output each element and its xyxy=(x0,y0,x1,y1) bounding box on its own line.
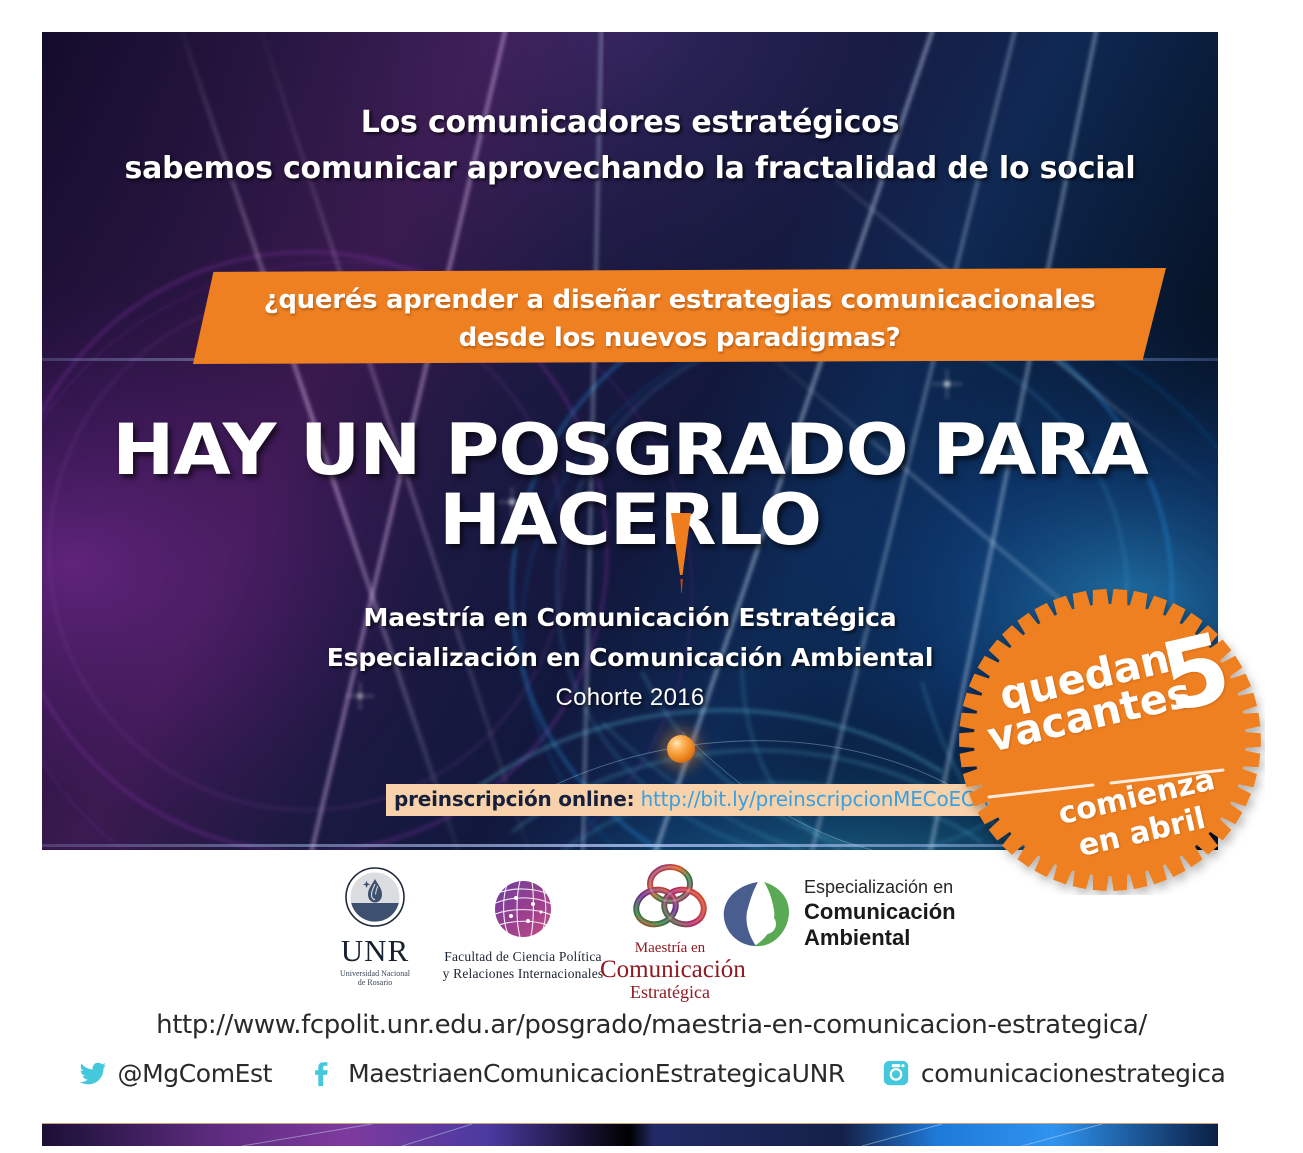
social-instagram[interactable]: comunicacionestrategica xyxy=(881,1058,1226,1088)
facultad-line-2: y Relaciones Internacionales xyxy=(443,966,604,981)
facebook-icon xyxy=(308,1058,338,1088)
leaf-droplet-icon xyxy=(718,876,794,952)
unr-emblem-icon xyxy=(344,866,406,928)
social-twitter[interactable]: @MgComEst xyxy=(78,1058,273,1088)
preinscription-line: preinscripción online: http://bit.ly/pre… xyxy=(386,784,996,816)
social-links-row: @MgComEst MaestriaenComunicacionEstrateg… xyxy=(0,1058,1303,1088)
eca-line-3: Ambiental xyxy=(804,925,956,952)
glowing-sphere-decoration xyxy=(667,735,695,763)
mce-line-2: Comunicación xyxy=(600,957,740,983)
twitter-handle: @MgComEst xyxy=(118,1059,273,1088)
facebook-handle: MaestriaenComunicacionEstrategicaUNR xyxy=(348,1059,845,1088)
website-url[interactable]: http://www.fcpolit.unr.edu.ar/posgrado/m… xyxy=(0,1010,1303,1040)
tagline-line-2: sabemos comunicar aprovechando la fracta… xyxy=(42,146,1218,192)
eca-line-2: Comunicación xyxy=(804,899,956,926)
mce-line-3: Estratégica xyxy=(600,983,740,1003)
unr-subtitle-line-2: de Rosario xyxy=(358,978,392,987)
instagram-handle: comunicacionestrategica xyxy=(921,1059,1226,1088)
unr-subtitle-line-1: Universidad Nacional xyxy=(340,969,410,978)
tagline: Los comunicadores estratégicos sabemos c… xyxy=(42,100,1218,191)
main-headline: HAY UN POSGRADO PARA HACERLO xyxy=(42,415,1218,555)
bottom-decorative-strip xyxy=(42,1123,1218,1146)
social-facebook[interactable]: MaestriaenComunicacionEstrategicaUNR xyxy=(308,1058,845,1088)
question-banner-text: ¿querés aprender a diseñar estrategias c… xyxy=(193,282,1166,357)
preinscription-label: preinscripción online: xyxy=(394,787,634,811)
exclamation-mark-icon xyxy=(670,513,692,593)
eca-line-1: Especialización en xyxy=(804,876,956,899)
instagram-icon xyxy=(881,1058,911,1088)
question-banner: ¿querés aprender a diseñar estrategias c… xyxy=(193,268,1166,364)
question-line-2: desde los nuevos paradigmas? xyxy=(459,323,901,353)
question-line-1: ¿querés aprender a diseñar estrategias c… xyxy=(264,285,1096,315)
bottom-strip-art xyxy=(42,1124,1218,1146)
globe-grid-icon xyxy=(492,878,554,940)
vacancy-badge: quedan vacantes 5 comienza en abril xyxy=(955,585,1265,895)
tagline-line-1: Los comunicadores estratégicos xyxy=(42,100,1218,146)
logo-strip: UNR Universidad Nacional de Rosario xyxy=(300,862,1000,1002)
badge-text-group: quedan vacantes 5 comienza en abril xyxy=(955,585,1265,895)
facultad-line-1: Facultad de Ciencia Política xyxy=(444,949,601,964)
preinscription-link[interactable]: http://bit.ly/preinscripcionMECoECA xyxy=(641,787,989,811)
twitter-icon xyxy=(78,1058,108,1088)
trefoil-knot-icon xyxy=(628,862,712,934)
